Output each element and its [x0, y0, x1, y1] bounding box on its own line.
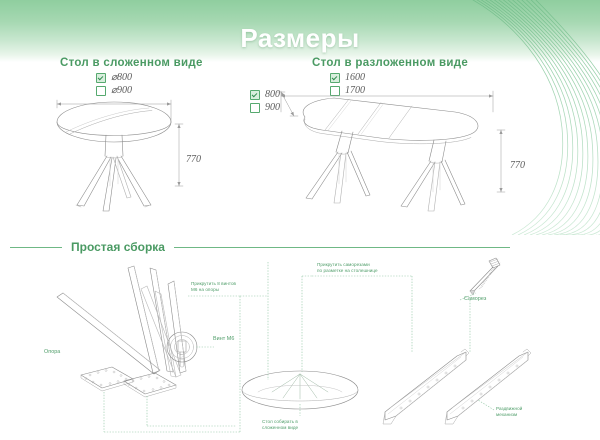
option-label: 1600: [345, 72, 365, 83]
option-label: ⌀800: [111, 72, 132, 83]
page-root: Размеры Стол в сложенном виде Стол в раз…: [0, 0, 600, 440]
depth-option-group: 800 900: [250, 89, 280, 115]
option-row[interactable]: 900: [250, 102, 280, 113]
option-row[interactable]: 1700: [330, 85, 365, 96]
assembly-section-header: Простая сборка: [10, 237, 510, 257]
checkbox-checked-icon[interactable]: [96, 73, 106, 83]
divider-left: [10, 247, 62, 248]
option-label: ⌀900: [111, 85, 132, 96]
option-label: 900: [265, 102, 280, 113]
height-dimension-label-unfolded: 770: [510, 160, 525, 171]
option-row[interactable]: ⌀800: [96, 72, 132, 83]
callout-self-tapping-screw: Саморез: [464, 296, 486, 303]
checkbox-unchecked-icon[interactable]: [330, 86, 340, 96]
divider-right: [174, 247, 510, 248]
page-title: Размеры: [0, 23, 600, 54]
callout-line: сложенном виде: [262, 425, 298, 431]
callout-assemble-folded: Стол собирать в сложенном виде: [262, 419, 298, 432]
checkbox-unchecked-icon[interactable]: [96, 86, 106, 96]
height-dimension-label-folded: 770: [186, 154, 201, 165]
callout-slide-mechanism: Раздвижной механизм: [496, 406, 522, 419]
checkbox-checked-icon[interactable]: [330, 73, 340, 83]
option-label: 800: [265, 89, 280, 100]
section-heading-unfolded: Стол в разложенном виде: [312, 57, 468, 69]
width-option-group: 1600 1700: [330, 72, 365, 98]
section-heading-assembly: Простая сборка: [62, 240, 174, 254]
callout-screws-8: Прикрутить 8 винтов М6 на опоры: [191, 281, 236, 294]
option-row[interactable]: ⌀900: [96, 85, 132, 96]
section-heading-folded: Стол в сложенном виде: [60, 57, 203, 69]
callout-bolt-m6: Винт М6: [213, 336, 234, 343]
callout-line: механизм: [496, 412, 522, 418]
checkbox-unchecked-icon[interactable]: [250, 103, 260, 113]
option-label: 1700: [345, 85, 365, 96]
diameter-option-group: ⌀800 ⌀900: [96, 72, 132, 98]
checkbox-checked-icon[interactable]: [250, 90, 260, 100]
option-row[interactable]: 1600: [330, 72, 365, 83]
option-row[interactable]: 800: [250, 89, 280, 100]
callout-line: М6 на опоры: [191, 287, 236, 293]
callout-line: по разметке на столешнице: [317, 268, 378, 274]
callout-self-tapping: Прикрутить саморезами по разметке на сто…: [317, 262, 378, 275]
callout-support-leg: Опора: [44, 349, 60, 356]
